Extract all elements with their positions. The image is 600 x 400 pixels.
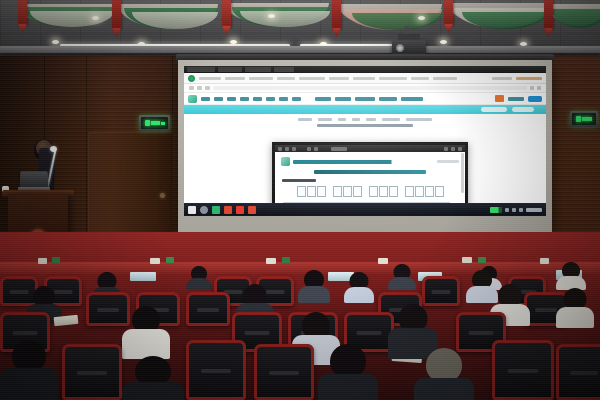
projector-lens (396, 44, 404, 52)
nav-item[interactable] (292, 97, 301, 101)
drape-sash (444, 0, 453, 26)
back-icon[interactable] (189, 86, 194, 90)
seat-label (197, 308, 219, 312)
seat-label (77, 371, 107, 375)
seat-label (432, 290, 451, 294)
attendee (344, 272, 374, 300)
band-pill[interactable] (481, 107, 507, 112)
site-logo-icon (188, 95, 197, 103)
start-menu-icon[interactable] (188, 206, 196, 214)
form-input-groups (275, 186, 465, 197)
attendee (122, 306, 170, 356)
volume-icon[interactable] (512, 208, 516, 212)
projection-screen (184, 66, 546, 216)
attendee (556, 262, 586, 288)
nav-item[interactable] (227, 97, 236, 101)
attendee-torso (388, 277, 416, 290)
desk-decor (378, 258, 388, 264)
drape-sash (332, 0, 341, 30)
exit-sign-left (139, 115, 170, 131)
app-taskbar-icon[interactable] (224, 206, 232, 214)
nav-item[interactable] (201, 97, 210, 101)
input-box[interactable] (353, 186, 362, 197)
breadcrumb (184, 114, 546, 122)
forward-icon[interactable] (197, 86, 202, 90)
desk-decor (38, 258, 47, 264)
breadcrumb-item[interactable] (382, 118, 400, 121)
bookmark-item[interactable] (199, 77, 221, 80)
network-icon[interactable] (505, 208, 509, 212)
breadcrumb-item[interactable] (352, 118, 360, 121)
projection-screen-frame (178, 60, 552, 232)
user-avatar[interactable] (495, 95, 504, 102)
desk-plant-icon (478, 257, 486, 263)
input-group[interactable] (405, 186, 444, 197)
browser-titlebar (184, 66, 546, 73)
seat-label (97, 308, 119, 312)
attendee-torso (344, 287, 374, 303)
attendee (556, 288, 594, 324)
microphone-icon (50, 146, 57, 152)
exit-running-man-icon (145, 120, 150, 126)
maximize-icon[interactable] (451, 147, 455, 151)
input-box[interactable] (379, 186, 388, 197)
attendee-torso (556, 307, 594, 328)
bookmark-item[interactable] (277, 77, 295, 80)
os-taskbar (184, 203, 546, 216)
desk-decor (540, 258, 549, 264)
nav-item[interactable] (279, 97, 288, 101)
section-heading (282, 179, 316, 182)
nav-item[interactable] (508, 97, 524, 101)
input-box[interactable] (389, 186, 398, 197)
breadcrumb-item[interactable] (406, 118, 432, 121)
site-navigation (184, 93, 546, 105)
laptop-screen (20, 171, 49, 188)
seat[interactable] (254, 344, 314, 400)
attendee-torso (0, 368, 58, 400)
attendee-torso (186, 278, 212, 290)
input-box[interactable] (317, 186, 326, 197)
bookmark-item[interactable] (433, 77, 457, 80)
seat-label (13, 331, 38, 335)
input-box[interactable] (343, 186, 352, 197)
bookmark-item[interactable] (225, 77, 245, 80)
browser-tab[interactable] (218, 67, 242, 72)
input-box[interactable] (307, 186, 316, 197)
exit-arrow-icon (582, 117, 592, 121)
bookmark-item[interactable] (329, 77, 349, 80)
seat[interactable] (62, 344, 122, 400)
attendee (122, 356, 184, 400)
bookmark-item[interactable] (411, 77, 429, 80)
system-tray (490, 207, 542, 213)
band-pill[interactable] (512, 107, 534, 112)
down-light (418, 16, 425, 20)
desk-decor (462, 257, 472, 263)
document-date (437, 160, 459, 163)
drape-sash (112, 0, 121, 30)
bookmark-item[interactable] (353, 77, 375, 80)
down-light (440, 40, 447, 44)
taskbar-clock[interactable] (526, 208, 542, 212)
doc-tool-icon[interactable] (331, 147, 347, 151)
close-icon[interactable] (458, 147, 462, 151)
desk-decor (150, 258, 160, 264)
nav-item[interactable] (214, 97, 223, 101)
breadcrumb-item[interactable] (318, 118, 332, 121)
seat-label (357, 331, 382, 335)
seat[interactable] (422, 276, 460, 306)
address-bar-input[interactable] (213, 86, 527, 90)
input-method-icon[interactable] (519, 208, 523, 212)
nav-item[interactable] (379, 97, 397, 101)
exit-sign-right (570, 111, 598, 127)
input-box[interactable] (425, 186, 434, 197)
auditorium-photo (0, 0, 600, 400)
ceiling (0, 0, 600, 62)
seat[interactable] (186, 292, 230, 326)
attendee-monitor (130, 272, 156, 281)
document-subtitle (314, 170, 426, 174)
input-box[interactable] (297, 186, 306, 197)
document-header (275, 152, 465, 166)
drape-sash (544, 0, 553, 30)
breadcrumb-item[interactable] (298, 118, 312, 121)
seat[interactable] (492, 340, 554, 400)
media-taskbar-icon[interactable] (236, 206, 244, 214)
input-group[interactable] (297, 186, 326, 197)
document-scrollbar[interactable] (461, 153, 464, 193)
doc-tool-icon[interactable] (292, 147, 296, 151)
doc-tool-icon[interactable] (278, 147, 282, 151)
doc-tool-icon[interactable] (307, 147, 311, 151)
input-box[interactable] (405, 186, 414, 197)
bookmark-item[interactable] (492, 77, 512, 80)
breadcrumb-item[interactable] (366, 118, 376, 121)
chat-taskbar-icon[interactable] (248, 206, 256, 214)
browser-logo-icon (188, 75, 195, 82)
browser-tab[interactable] (187, 67, 215, 72)
nav-item[interactable] (401, 97, 423, 101)
page-title (317, 124, 413, 127)
breadcrumb-item[interactable] (338, 118, 346, 121)
attendee-torso (318, 374, 378, 400)
attendee (186, 266, 212, 288)
attendee (318, 344, 378, 400)
desk-plant-icon (166, 257, 174, 263)
input-group[interactable] (333, 186, 362, 197)
seat-label (269, 371, 299, 375)
page-content (184, 114, 546, 216)
exit-arrow-icon (161, 122, 165, 125)
attendee-torso (298, 286, 330, 303)
menu-icon[interactable] (537, 86, 541, 90)
minimize-icon[interactable] (444, 147, 448, 151)
attendee-head (330, 344, 366, 378)
seat-label (535, 308, 557, 312)
ceiling-beam (0, 46, 600, 53)
site-accent-band (184, 105, 546, 114)
reload-icon[interactable] (205, 86, 210, 90)
exit-running-man-icon (576, 116, 581, 122)
exit-sign-face (572, 113, 596, 125)
seat-label (570, 371, 598, 375)
browser-tab[interactable] (245, 67, 271, 72)
doc-tool-icon[interactable] (285, 147, 289, 151)
battery-icon[interactable] (490, 207, 502, 213)
bookmark-item[interactable] (516, 77, 542, 80)
browser-address-row (184, 84, 546, 93)
attendee (0, 340, 58, 400)
desk-plant-icon (282, 257, 290, 263)
input-group[interactable] (369, 186, 398, 197)
attendee-torso (122, 382, 184, 400)
down-light (230, 40, 237, 44)
input-box[interactable] (333, 186, 342, 197)
nav-item[interactable] (335, 97, 351, 101)
bookmark-item[interactable] (249, 77, 273, 80)
attendee (388, 264, 416, 288)
primary-nav-button[interactable] (528, 96, 542, 102)
institution-name (293, 160, 434, 164)
nav-item[interactable] (355, 97, 375, 101)
desk-plant-icon (52, 257, 60, 263)
input-box[interactable] (369, 186, 378, 197)
exit-sign-face (141, 117, 168, 129)
exit-text-glyph (151, 121, 160, 125)
bookmark-star-icon[interactable] (530, 86, 534, 90)
seat-label (508, 369, 539, 373)
document-titlebar (275, 145, 465, 152)
institution-logo-icon (281, 157, 290, 166)
attendee (414, 348, 474, 400)
drape-sash (18, 0, 27, 26)
attendee-head (426, 348, 462, 382)
doc-tool-icon[interactable] (314, 147, 318, 151)
nav-item[interactable] (240, 97, 249, 101)
nav-item[interactable] (253, 97, 262, 101)
nav-item[interactable] (315, 97, 331, 101)
down-light (52, 40, 59, 44)
attendee (298, 270, 330, 300)
browser-toolbar (184, 73, 546, 84)
down-light (268, 14, 275, 18)
browser-tab[interactable] (274, 67, 294, 72)
desk-decor (266, 258, 276, 264)
bookmark-item[interactable] (299, 77, 325, 80)
browser-taskbar-icon[interactable] (212, 206, 220, 214)
seat-label (245, 331, 270, 335)
bookmark-item[interactable] (379, 77, 407, 80)
attendee-torso (122, 329, 170, 359)
seat[interactable] (186, 340, 246, 400)
input-box[interactable] (435, 186, 444, 197)
seat-label (201, 369, 231, 373)
drape-sash (222, 0, 231, 28)
seat[interactable] (556, 344, 600, 400)
nav-item[interactable] (266, 97, 275, 101)
input-box[interactable] (415, 186, 424, 197)
down-light (92, 16, 99, 20)
seat-label (469, 331, 494, 335)
search-icon[interactable] (200, 206, 208, 214)
attendee-torso (414, 378, 474, 400)
